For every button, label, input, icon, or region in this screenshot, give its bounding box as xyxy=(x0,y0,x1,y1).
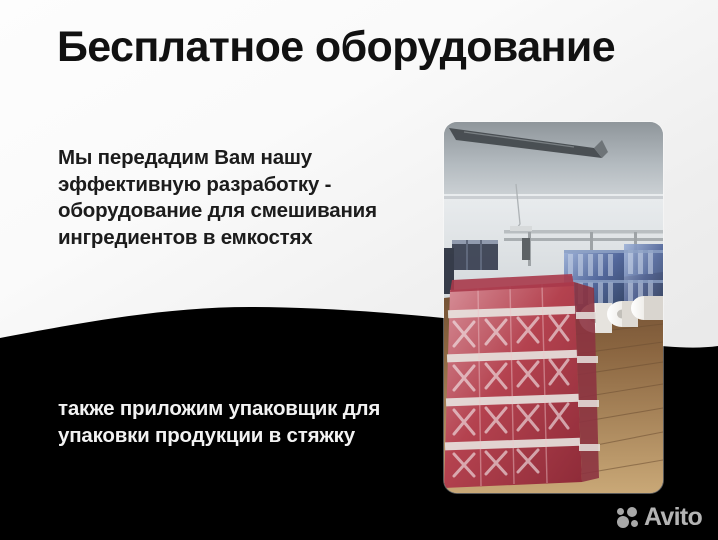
slide-canvas: Бесплатное оборудование Мы передадим Вам… xyxy=(0,0,718,540)
avito-wordmark: Avito xyxy=(644,505,702,530)
avito-dots-icon xyxy=(617,507,640,529)
avito-watermark: Avito xyxy=(617,505,702,530)
warehouse-photo-illustration xyxy=(444,122,663,493)
page-title: Бесплатное оборудование xyxy=(57,24,677,70)
warehouse-photo xyxy=(444,122,663,493)
secondary-paragraph: также приложим упаковщик для упаковки пр… xyxy=(58,396,398,449)
lead-paragraph: Мы передадим Вам нашу эффективную разраб… xyxy=(58,145,418,252)
